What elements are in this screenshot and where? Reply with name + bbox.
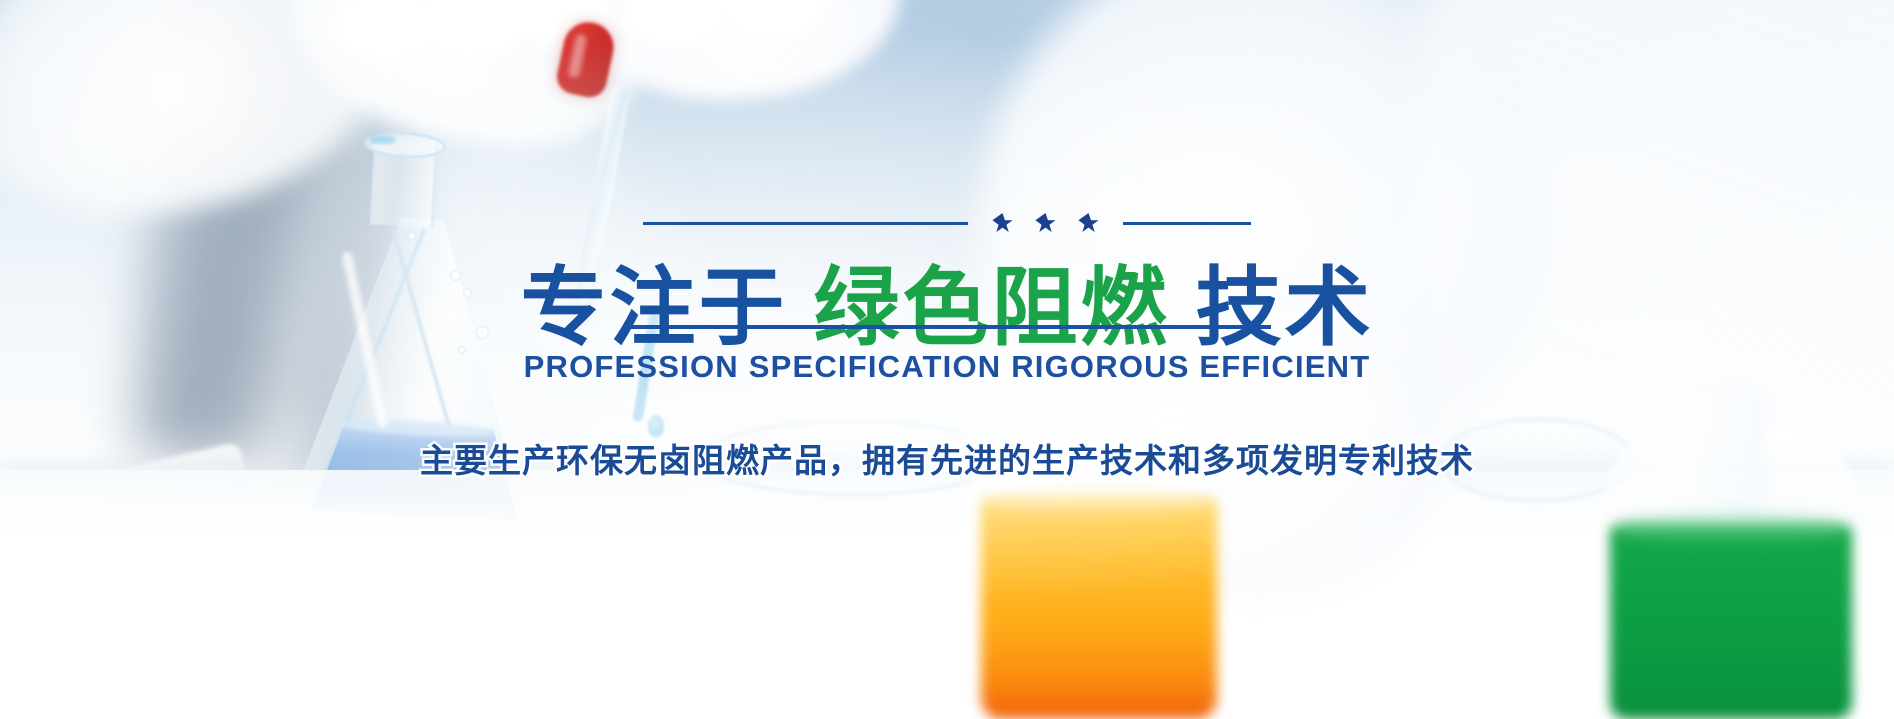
divider-stars — [968, 213, 1123, 234]
title-divider — [552, 213, 1342, 234]
divider-rule-right — [1123, 222, 1251, 225]
star-icon — [992, 213, 1013, 234]
headline-segment-blue-1: 专注于 — [521, 260, 788, 356]
star-icon — [1035, 213, 1056, 234]
headline-segment-blue-2: 技术 — [1196, 260, 1374, 356]
banner-tagline-chinese: 主要生产环保无卤阻燃产品，拥有先进的生产技术和多项发明专利技术 — [420, 434, 1474, 482]
banner-headline: 专注于绿色阻燃技术 — [521, 258, 1374, 359]
banner-subtitle-english: PROFESSION SPECIFICATION RIGOROUS EFFICI… — [524, 349, 1371, 385]
hero-banner: 专注于绿色阻燃技术 PROFESSION SPECIFICATION RIGOR… — [0, 0, 1894, 719]
headline-underline — [623, 325, 1271, 329]
headline-segment-green: 绿色阻燃 — [814, 260, 1170, 356]
banner-content: 专注于绿色阻燃技术 PROFESSION SPECIFICATION RIGOR… — [0, 0, 1894, 719]
divider-rule-left — [643, 222, 968, 225]
star-icon — [1078, 213, 1099, 234]
